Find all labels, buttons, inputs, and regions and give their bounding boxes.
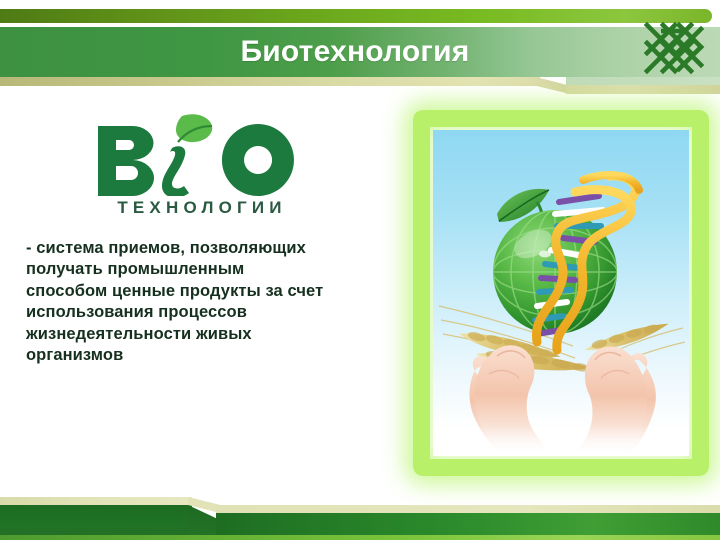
footer-accent-strip-left (0, 497, 192, 505)
biotech-illustration-icon (433, 130, 689, 456)
footer-dark-band-left (0, 505, 192, 535)
header-right-shade (566, 77, 720, 85)
bio-logo: ТЕХНОЛОГИИ (88, 112, 316, 230)
header-top-band (0, 9, 712, 23)
bio-wordmark-icon (88, 112, 316, 196)
header-accent-strip-left (0, 77, 540, 86)
footer-dark-band-right (216, 513, 720, 535)
illustration-canvas (433, 130, 689, 456)
footer-accent-strip-right (216, 505, 720, 513)
page-title: Биотехнология (0, 27, 720, 77)
woven-lattice-logo-icon (641, 17, 707, 77)
footer-light-band (0, 535, 720, 540)
slide-footer (0, 497, 720, 540)
header-accent-strip-right (566, 85, 720, 94)
header-accent-step (536, 77, 570, 94)
bio-logo-subtitle: ТЕХНОЛОГИИ (88, 198, 316, 218)
illustration (413, 110, 709, 476)
slide: Биотехнология (0, 0, 720, 540)
slide-header: Биотехнология (0, 0, 720, 100)
leaf-icon (176, 114, 212, 142)
definition-text: - система приемов, позволяющих получать … (26, 238, 326, 367)
